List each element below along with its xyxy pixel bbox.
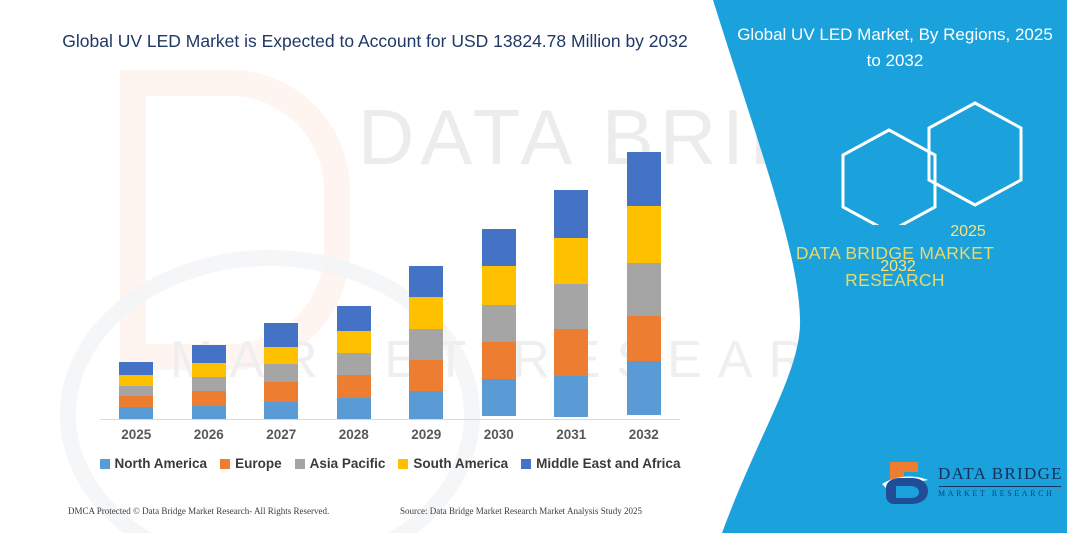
x-axis-label: 2027 [245,427,318,442]
x-axis-label: 2028 [318,427,391,442]
legend-item: Europe [220,456,282,471]
stacked-bar [119,362,153,419]
x-axis-label: 2030 [463,427,536,442]
bar-segment [627,152,661,206]
x-axis-line [100,419,680,420]
legend-swatch-icon [100,459,110,469]
chart-area: Global UV LED Market is Expected to Acco… [0,0,715,533]
panel-title: Global UV LED Market, By Regions, 2025 t… [735,22,1055,74]
bar-segment [554,376,588,417]
x-axis-label: 2026 [173,427,246,442]
legend-item: Middle East and Africa [521,456,680,471]
bar-segment [264,323,298,347]
bar-segment [337,353,371,375]
x-axis-label: 2031 [535,427,608,442]
hexagon-2032-icon [843,130,935,225]
legend-item: South America [398,456,508,471]
bar-segment [192,377,226,391]
hexagon-2025-icon [929,103,1021,205]
stacked-bars [100,140,680,419]
bar-segment [192,406,226,420]
bar-segment [627,206,661,263]
bar-segment [192,391,226,406]
bar-segment [337,375,371,399]
hexagon-2025-label: 2025 [923,223,1013,241]
bar-segment [337,306,371,331]
bar-segment [264,347,298,365]
legend-swatch-icon [220,459,230,469]
bar-segment [409,360,443,391]
data-bridge-b-icon [878,458,936,508]
logo-divider [939,486,1061,487]
panel-brand-line1: DATA BRIDGE MARKET [735,240,1055,267]
legend-swatch-icon [521,459,531,469]
bar-segment [337,398,371,419]
legend-label: South America [413,456,508,471]
chart-legend: North AmericaEuropeAsia PacificSouth Ame… [95,456,685,471]
legend-swatch-icon [295,459,305,469]
bar-column-2026 [173,140,246,419]
bar-segment [409,266,443,297]
bar-segment [119,396,153,408]
legend-item: North America [100,456,208,471]
x-axis-label: 2025 [100,427,173,442]
bar-column-2027 [245,140,318,419]
bar-segment [554,190,588,238]
legend-label: Asia Pacific [310,456,386,471]
footer-source: Source: Data Bridge Market Research Mark… [400,506,642,516]
bar-segment [119,362,153,375]
stacked-bar [337,306,371,419]
bar-segment [482,342,516,379]
bar-column-2032 [608,140,681,419]
bar-segment [554,284,588,330]
stacked-bar [192,345,226,419]
bar-segment [554,329,588,376]
bar-segment [119,407,153,419]
bar-segment [192,345,226,363]
bar-segment [409,329,443,360]
bar-column-2029 [390,140,463,419]
bar-segment [119,375,153,386]
legend-label: Europe [235,456,282,471]
bar-segment [482,229,516,266]
legend-swatch-icon [398,459,408,469]
stacked-bar [264,323,298,419]
bar-column-2025 [100,140,173,419]
bar-column-2028 [318,140,391,419]
bar-segment [554,238,588,284]
stacked-bar [627,152,661,419]
legend-item: Asia Pacific [295,456,386,471]
x-axis-label: 2032 [608,427,681,442]
bar-segment [337,331,371,353]
hexagon-group: 2025 2032 [825,95,1065,225]
bar-segment [482,305,516,342]
bar-segment [119,386,153,396]
data-bridge-logo: DATA BRIDGE MARKET RESEARCH [878,458,1058,514]
poster-page: DATA BRIDGE MARKET RESEARCH Global UV LE… [0,0,1067,533]
bar-segment [482,379,516,416]
bar-segment [409,391,443,419]
bar-segment [482,266,516,305]
x-axis-labels: 20252026202720282029203020312032 [100,427,680,442]
bar-segment [627,316,661,361]
footer-copyright: DMCA Protected © Data Bridge Market Rese… [68,506,329,516]
page-title: Global UV LED Market is Expected to Acco… [60,28,690,54]
stacked-bar [554,190,588,419]
bar-column-2031 [535,140,608,419]
bar-column-2030 [463,140,536,419]
footer: DMCA Protected © Data Bridge Market Rese… [0,506,715,526]
bar-segment [627,263,661,317]
bar-segment [192,363,226,377]
logo-name: DATA BRIDGE [938,464,1063,484]
stacked-bar [482,229,516,419]
panel-content: Global UV LED Market, By Regions, 2025 t… [715,0,1067,533]
panel-brand-line2: RESEARCH [735,267,1055,294]
bar-segment [264,364,298,382]
bar-segment [409,297,443,329]
legend-label: North America [115,456,208,471]
logo-text-block: DATA BRIDGE MARKET RESEARCH [938,464,1063,498]
bar-segment [264,402,298,420]
x-axis-label: 2029 [390,427,463,442]
bar-segment [264,382,298,402]
logo-subtitle: MARKET RESEARCH [938,489,1063,498]
legend-label: Middle East and Africa [536,456,680,471]
panel-brand: DATA BRIDGE MARKET RESEARCH [735,240,1055,294]
stacked-bar [409,266,443,419]
bar-segment [627,361,661,415]
